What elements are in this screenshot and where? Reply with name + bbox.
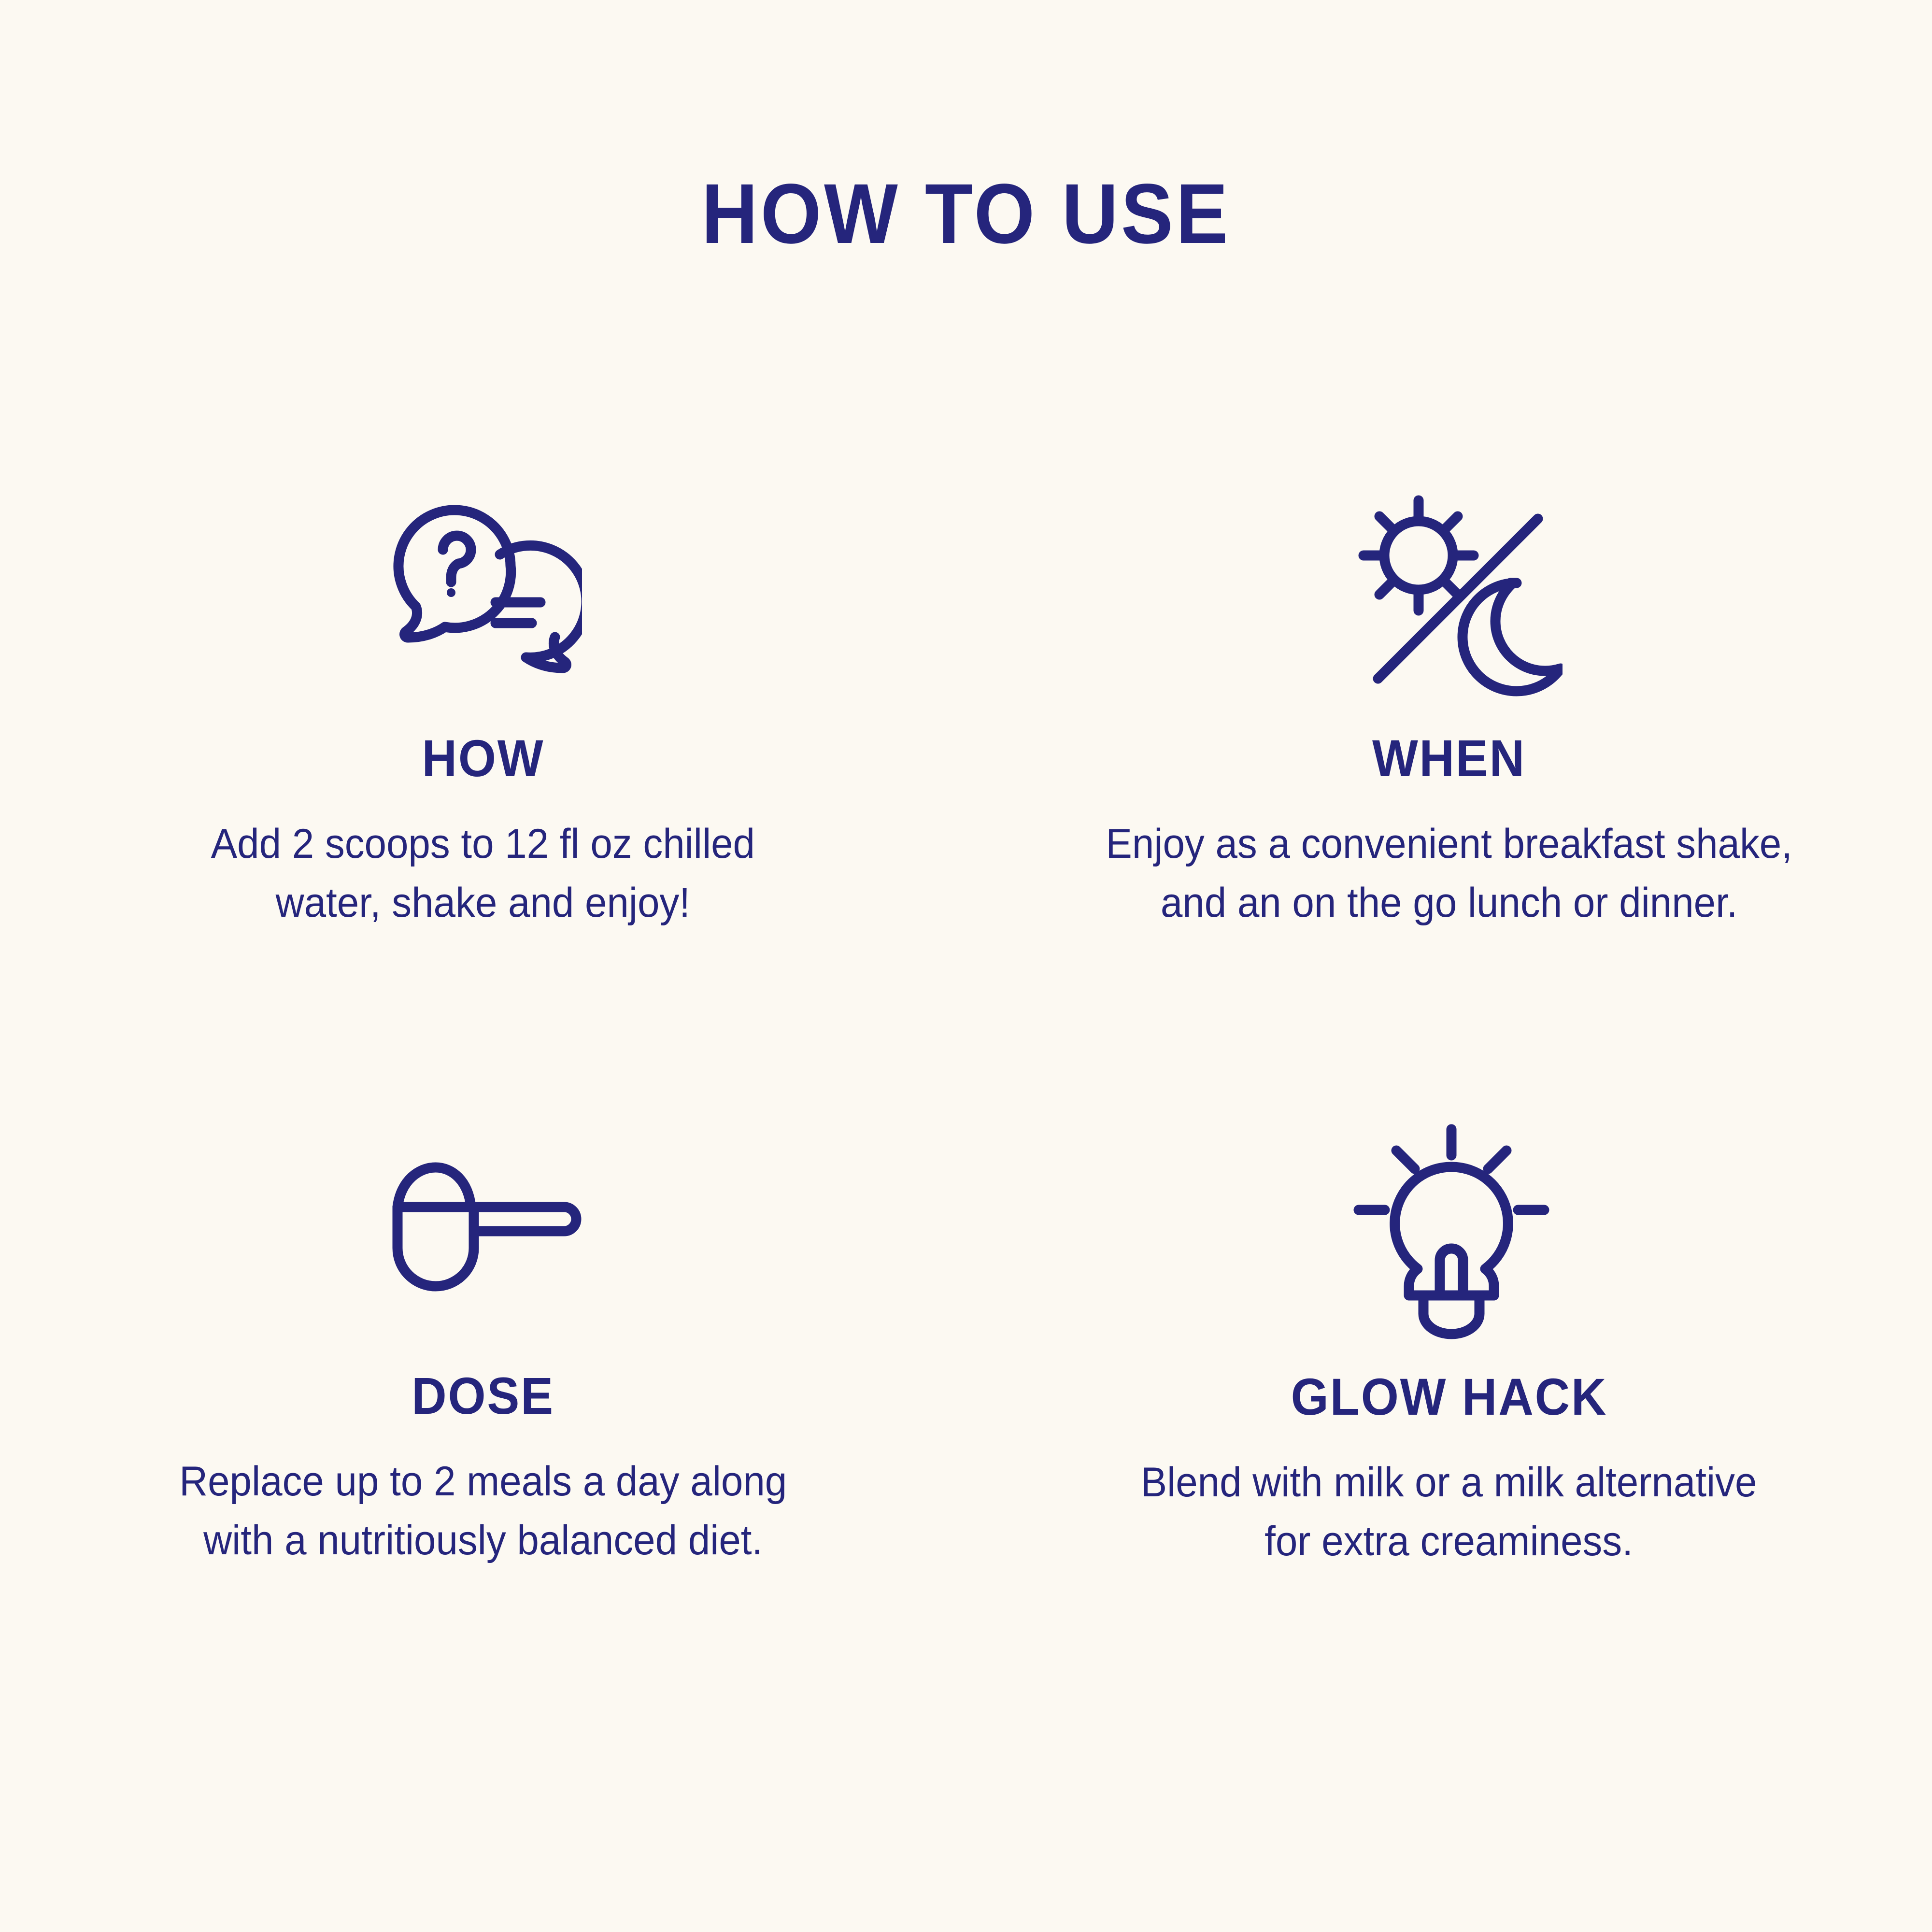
section-body: Blend with milk or a milk alternative fo… xyxy=(1141,1453,1757,1571)
section-how: HOW Add 2 scoops to 12 fl oz chilled wat… xyxy=(0,483,966,932)
section-body: Replace up to 2 meals a day along with a… xyxy=(179,1452,787,1570)
section-body: Enjoy as a convenient breakfast shake, a… xyxy=(1106,814,1792,932)
section-heading: DOSE xyxy=(412,1370,554,1422)
section-heading: GLOW HACK xyxy=(1291,1371,1607,1423)
page-title: HOW TO USE xyxy=(77,171,1855,256)
how-to-use-infographic: HOW TO USE HOW Add 2 scoops to xyxy=(0,0,1932,1932)
steps-grid: HOW Add 2 scoops to 12 fl oz chilled wat… xyxy=(0,483,1932,1570)
speech-bubbles-question-icon xyxy=(389,483,582,704)
section-heading: WHEN xyxy=(1372,732,1526,784)
section-heading: HOW xyxy=(422,732,544,784)
section-when: WHEN Enjoy as a convenient breakfast sha… xyxy=(966,483,1932,932)
measuring-scoop-icon xyxy=(382,1121,589,1342)
section-body: Add 2 scoops to 12 fl oz chilled water, … xyxy=(211,814,755,932)
section-dose: DOSE Replace up to 2 meals a day along w… xyxy=(0,1121,966,1570)
sun-moon-slash-icon xyxy=(1350,483,1563,704)
lightbulb-icon xyxy=(1350,1121,1553,1343)
section-glow-hack: GLOW HACK Blend with milk or a milk alte… xyxy=(966,1121,1932,1570)
